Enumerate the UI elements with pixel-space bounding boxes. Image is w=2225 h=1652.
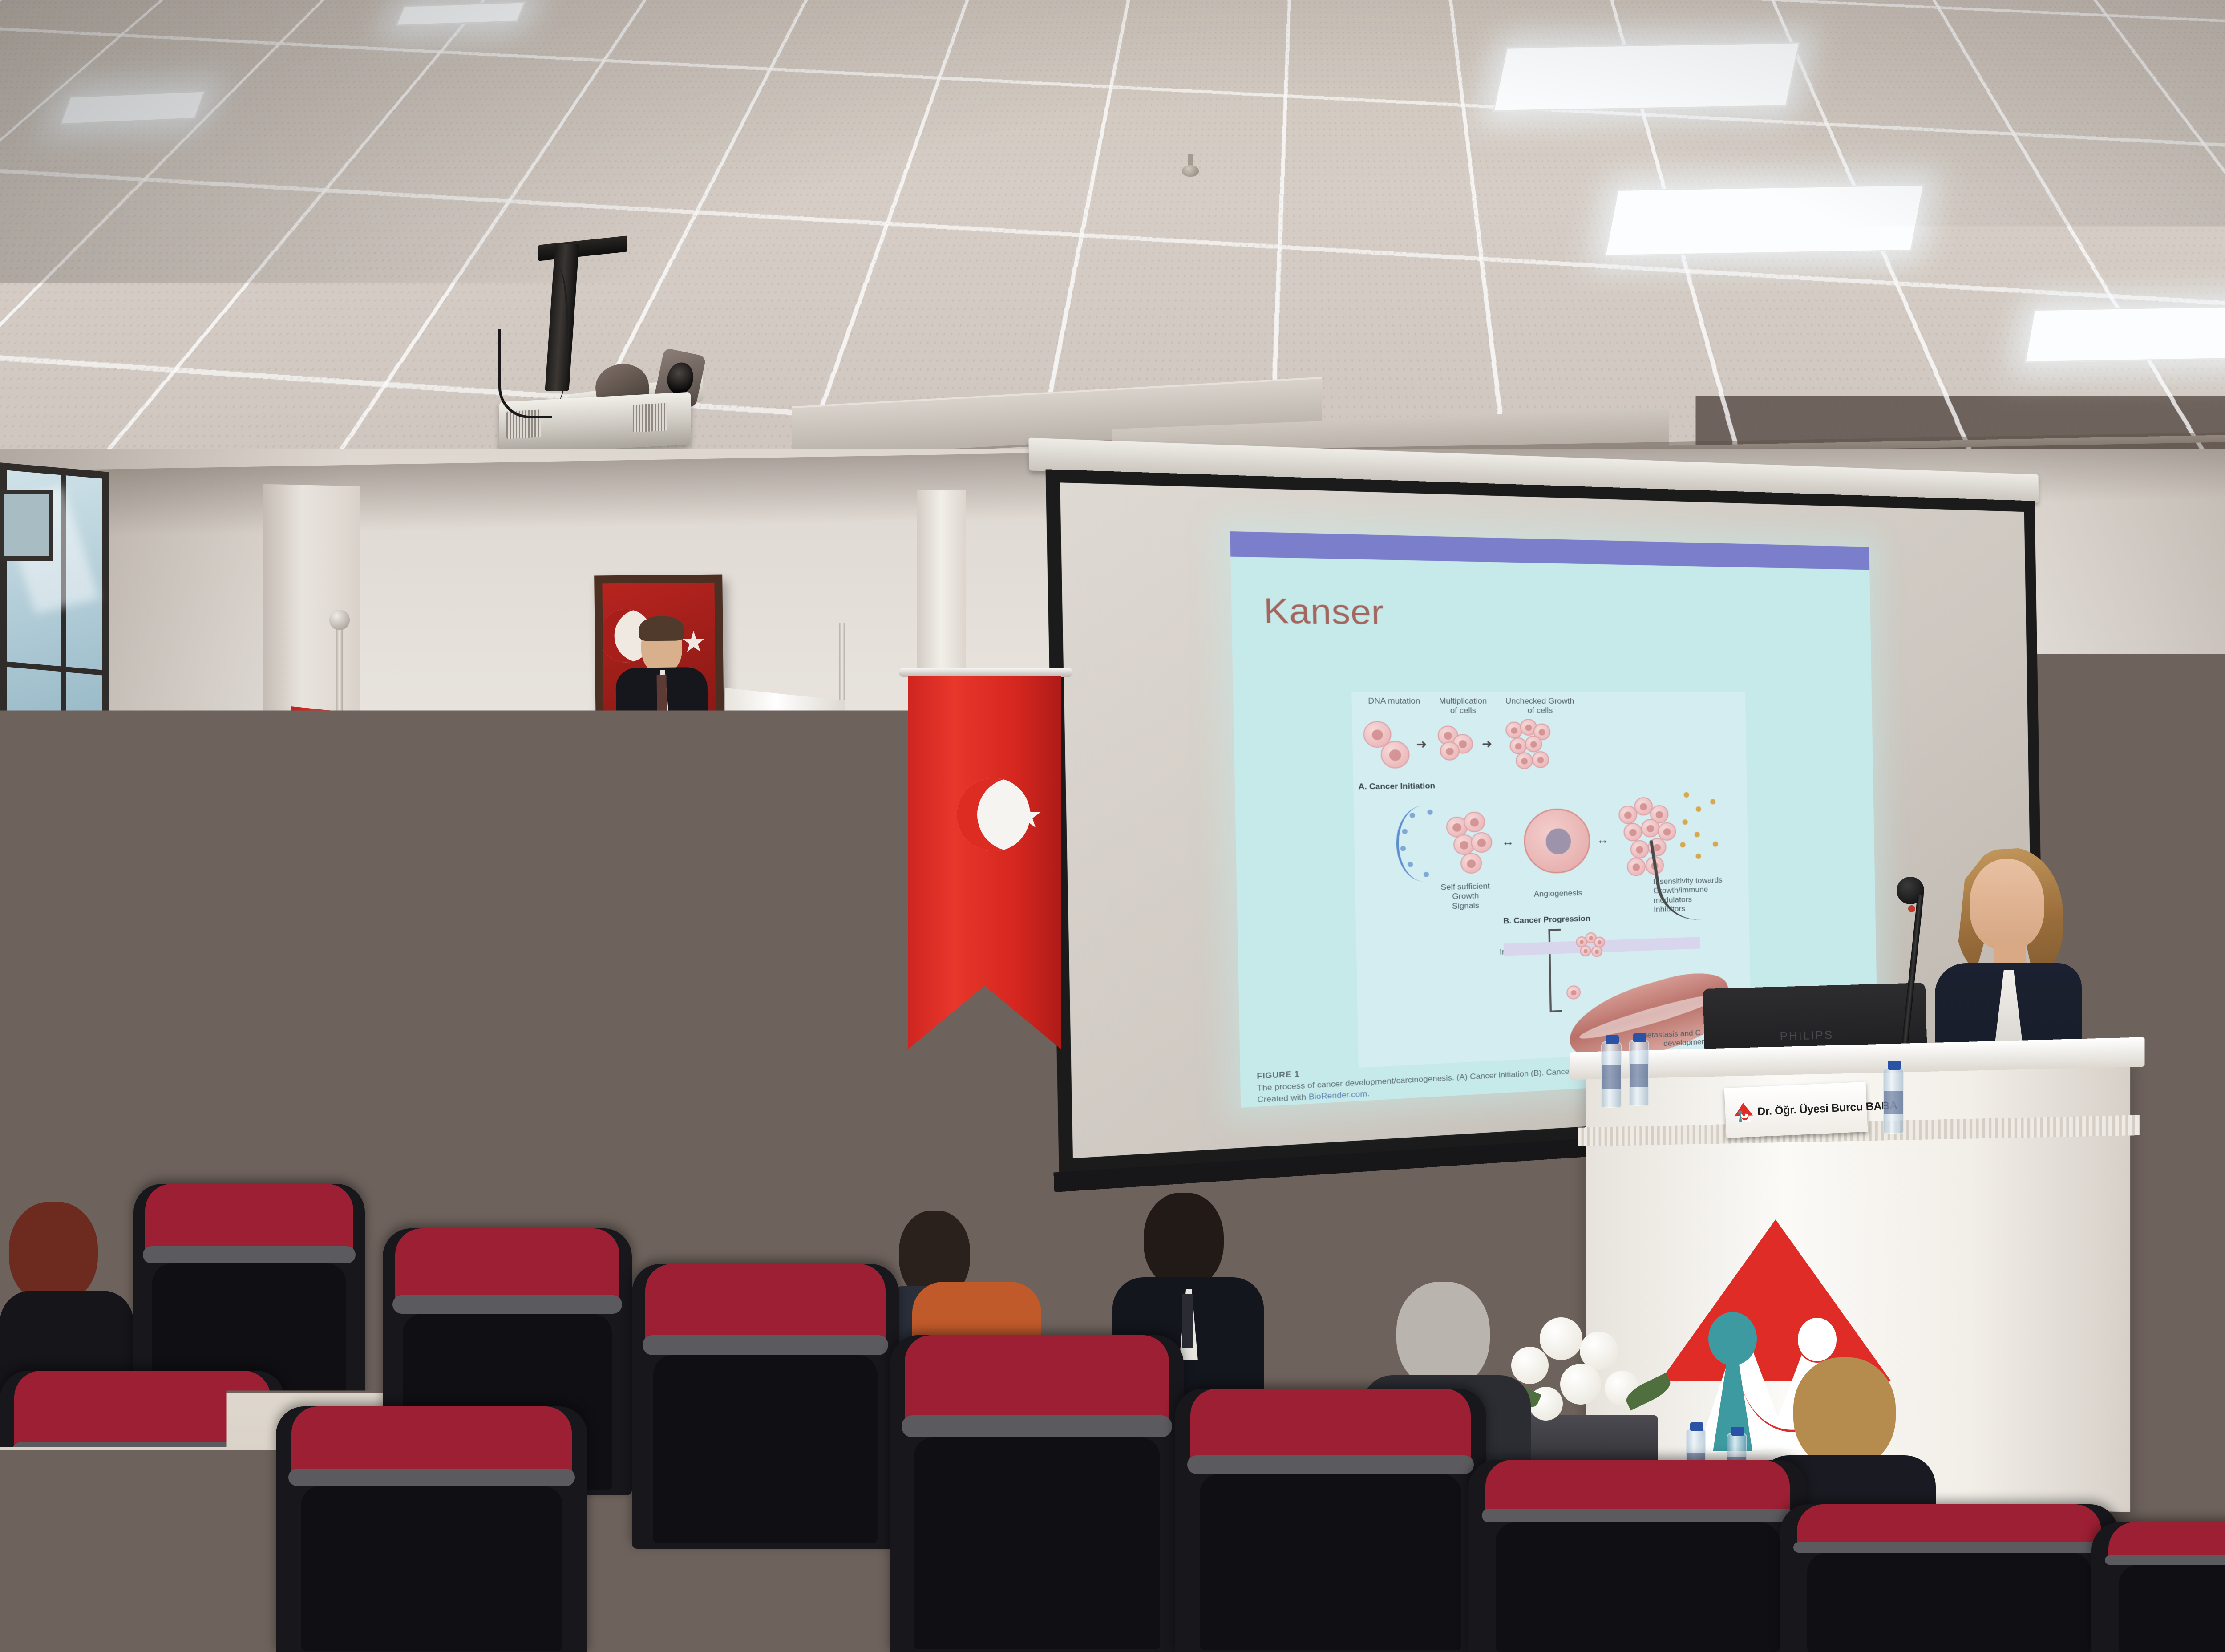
figure-arrow-icon: ↔ — [1502, 834, 1515, 849]
window-small — [0, 490, 53, 561]
tablet-device — [166, 1040, 208, 1066]
auditorium-scene: Kanser DNA mutation Multiplication of ce… — [0, 0, 2225, 1652]
university-logo-icon — [2207, 895, 2225, 1041]
university-flag — [725, 688, 845, 1057]
auditorium-seat[interactable] — [2091, 1522, 2225, 1652]
ataturk-portrait — [594, 575, 725, 816]
water-bottle — [1601, 1041, 1622, 1108]
water-bottle — [1629, 1040, 1649, 1106]
figure-label-multiplication: Multiplication of cells — [1426, 696, 1500, 716]
figure-label-self-signals: Self sufficient Growth Signals — [1428, 881, 1502, 912]
banner-text-line1: YÜKSEK İHTİSAS — [2144, 1059, 2225, 1087]
water-bottle — [462, 1021, 482, 1089]
ceiling-light-panel — [2024, 305, 2225, 363]
figure-label-stage-b: B. Cancer Progression — [1503, 914, 1590, 926]
eyeglasses-icon — [142, 932, 181, 943]
name-card-name1: Prof. Dr. Inge ERGÜDER — [261, 1010, 348, 1020]
figure-label-stage-a: A. Cancer Initiation — [1358, 781, 1435, 791]
speaker-nameplate: Dr. Öğr. Üyesi Burcu BABA — [1724, 1082, 1868, 1138]
auditorium-seat[interactable] — [632, 1264, 899, 1549]
auditorium-seat[interactable] — [1175, 1389, 1486, 1652]
university-logo-icon — [756, 752, 830, 826]
banner-text: YÜKSEK İHTİSAS ÜNİVERSİTESİ — [2144, 1059, 2225, 1115]
water-bottle — [433, 1019, 453, 1087]
ceiling-light-panel — [1493, 42, 1800, 112]
figure-label-angiogenesis: Angiogenesis — [1520, 888, 1596, 899]
microphone-indicator — [1908, 905, 1915, 912]
auditorium-seat[interactable] — [570, 1531, 934, 1652]
monitor-brand-label: PHILIPS — [1780, 1028, 1834, 1043]
name-card-header: 2. OTURUM BAŞKANLARI — [261, 998, 348, 1008]
slide-figure: DNA mutation Multiplication of cells Unc… — [1351, 692, 1751, 1068]
ceiling-light-panel — [1604, 184, 1924, 256]
auditorium-seat[interactable] — [276, 1406, 587, 1652]
figure-caption-created: Created with — [1257, 1093, 1309, 1105]
auditorium-seat[interactable] — [0, 1371, 285, 1652]
auditorium-seat[interactable] — [1780, 1504, 2118, 1652]
nameplate-logo-icon — [1734, 1102, 1753, 1122]
water-bottle — [403, 1017, 424, 1085]
sprinkler-head-icon — [1179, 154, 1201, 178]
figure-arrow-icon: ↔ — [1597, 833, 1609, 847]
table-cloth-year: 2013 — [392, 1136, 415, 1150]
figure-arc-arrow-icon — [1396, 806, 1451, 882]
water-bottle — [99, 1054, 119, 1122]
figure-arrow-icon: ➜ — [1416, 737, 1427, 752]
biorender-link[interactable]: BioRender.com — [1308, 1089, 1367, 1102]
figure-label-unchecked-growth: Unchecked Growth of cells — [1494, 696, 1585, 716]
auditorium-seat[interactable] — [1468, 1460, 1807, 1652]
slide-title: Kanser — [1263, 590, 1384, 632]
name-card-logo-icon — [295, 1044, 316, 1065]
flag-year: 2013 — [824, 828, 844, 840]
ceiling-projector — [472, 240, 739, 458]
figure-arrow-icon: ➜ — [1481, 737, 1492, 751]
slide-header-bar — [1230, 531, 1869, 570]
banner-text-line2: ÜNİVERSİTESİ — [2144, 1087, 2225, 1115]
figure-angiogenesis-cell — [1523, 808, 1591, 874]
figure-caption-period: . — [1367, 1089, 1370, 1098]
name-card-name2: Prof. Dr. Taner ÖZGÜRTAŞ — [262, 1021, 349, 1031]
water-bottle — [1883, 1067, 1904, 1134]
flag-pole-knob — [329, 610, 350, 630]
figure-label-dna-mutation: DNA mutation — [1357, 696, 1432, 706]
